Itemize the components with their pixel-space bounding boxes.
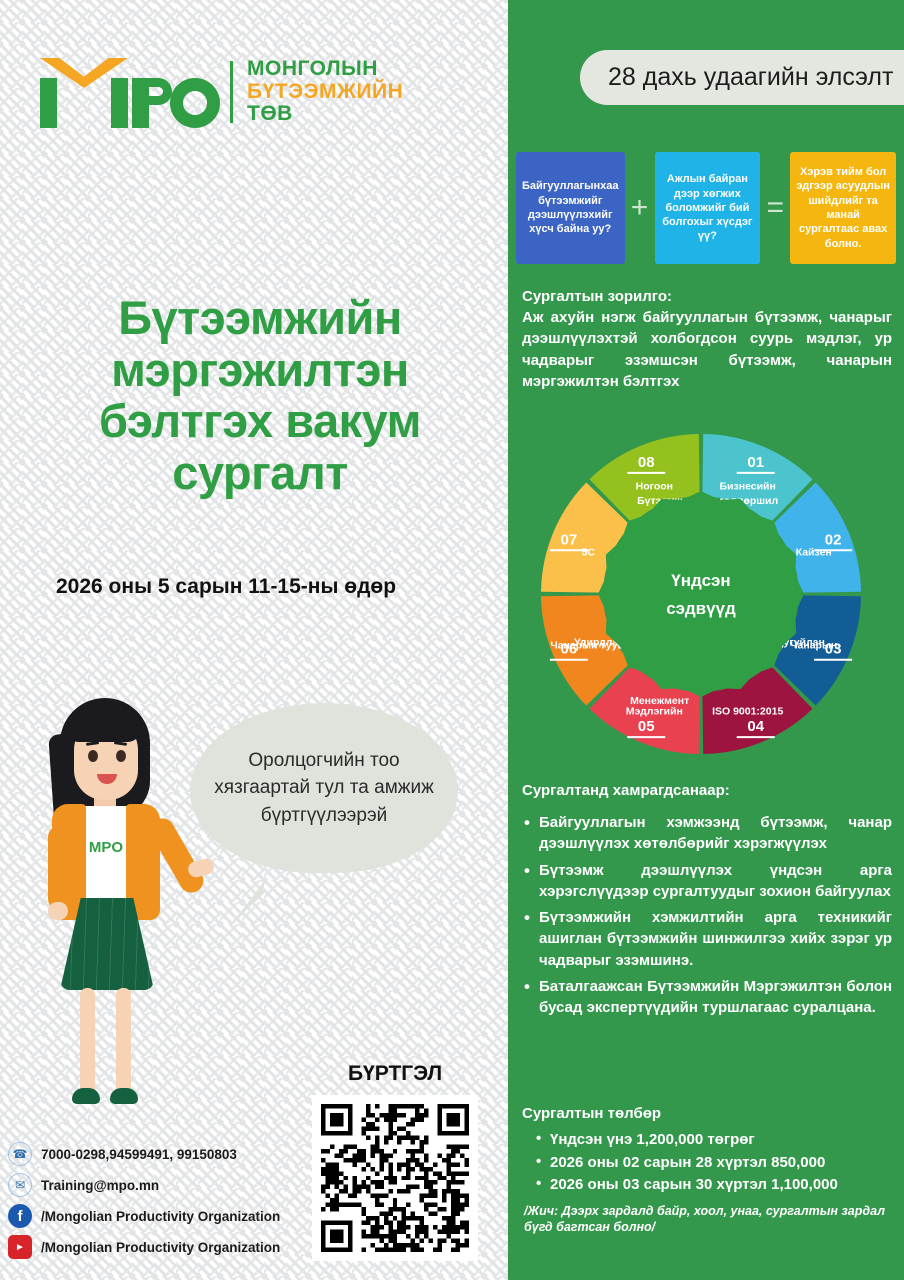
hand-left: [48, 902, 68, 920]
facebook-icon: f: [8, 1204, 32, 1228]
speech-bubble: Оролцогчийн тоо хязгаартай тул та амжиж …: [190, 703, 458, 873]
svg-text:Мэдлэгийн: Мэдлэгийн: [626, 706, 683, 718]
donut-chart-svg: 01БизнесийнТөгөлдөршил02Кайзен03Чанарынд…: [536, 432, 866, 757]
admission-banner: 28 дахь удаагийн элсэлт: [580, 50, 904, 105]
email-icon: ✉: [8, 1173, 32, 1197]
logo-letter-o: [170, 78, 220, 128]
logo-word-line-2: БҮТЭЭМЖИЙН: [247, 81, 403, 104]
mpo-logo: МОНГОЛЫН БҮТЭЭМЖИЙН ТӨВ: [36, 56, 403, 128]
eye-left: [88, 750, 98, 762]
logo-letter-m: [40, 78, 128, 128]
admission-banner-text: 28 дахь удаагийн элсэлт: [608, 63, 893, 92]
purpose-body: Аж ахуйн нэгж байгууллагын бүтээмж, чана…: [522, 307, 892, 392]
eye-right: [116, 750, 126, 762]
contact-email-text: Training@mpo.mn: [41, 1178, 159, 1193]
contact-phone-text: 7000-0298,94599491, 99150803: [41, 1147, 237, 1162]
svg-text:Бизнесийн: Бизнесийн: [720, 480, 776, 492]
svg-text:Ногоон: Ногоон: [636, 480, 673, 492]
donut-center-hub: [598, 491, 804, 697]
phone-icon: ☎: [8, 1142, 32, 1166]
list-item: 2026 оны 02 сарын 28 хүртэл 850,000: [536, 1152, 892, 1175]
qr-code-image: [321, 1104, 469, 1252]
donut-center-label: сэдвүүд: [666, 599, 736, 618]
list-item: Байгууллагын хэмжээнд бүтээмж, чанар дээ…: [522, 812, 892, 855]
fees-section: Сургалтын төлбөр Үндсэн үнэ 1,200,000 тө…: [522, 1105, 892, 1236]
svg-text:04: 04: [747, 718, 764, 735]
equation-box-2: Ажлын байран дээр хөгжих боломжийг бий б…: [655, 152, 761, 264]
list-item: 2026 оны 03 сарын 30 хүртэл 1,100,000: [536, 1174, 892, 1197]
contact-youtube-text: /Mongolian Productivity Organization: [41, 1240, 280, 1255]
list-item: Бүтээмж дээшлүүлэх үндсэн арга хэрэгслүү…: [522, 860, 892, 903]
mpo-logo-mark-icon: [36, 56, 206, 128]
shoe-right: [110, 1088, 138, 1104]
contact-facebook-text: /Mongolian Productivity Organization: [41, 1209, 280, 1224]
list-item: Баталгаажсан Бүтээмжийн Мэргэжилтэн боло…: [522, 976, 892, 1019]
purpose-heading: Сургалтын зорилго:: [522, 288, 892, 305]
purpose-section: Сургалтын зорилго: Аж ахуйн нэгж байгуул…: [522, 288, 892, 392]
fees-heading: Сургалтын төлбөр: [522, 1105, 892, 1122]
fees-note: /Жич: Дээрх зардалд байр, хоол, унаа, су…: [522, 1203, 892, 1237]
leg-left: [80, 988, 95, 1096]
svg-text:07: 07: [561, 531, 578, 548]
speech-bubble-tail: [215, 880, 265, 926]
contact-youtube[interactable]: ► /Mongolian Productivity Organization: [8, 1235, 308, 1259]
shoe-left: [72, 1088, 100, 1104]
svg-text:05: 05: [638, 718, 655, 735]
shirt-logo-icon: MPO: [82, 838, 130, 858]
qr-code[interactable]: [312, 1095, 478, 1261]
benefits-section: Сургалтанд хамрагдсанаар: Байгууллагын х…: [522, 782, 892, 1024]
svg-text:Менежмент: Менежмент: [630, 695, 689, 707]
core-topics-donut-chart: 01БизнесийнТөгөлдөршил02Кайзен03Чанарынд…: [536, 432, 866, 757]
training-date: 2026 оны 5 сарын 11-15-ны өдөр: [56, 575, 476, 599]
contact-list: ☎ 7000-0298,94599491, 99150803 ✉ Trainin…: [8, 1142, 308, 1266]
arm-left: [48, 826, 70, 910]
page-title: Бүтээмжийн мэргэжилтэн бэлтгэх вакум сур…: [40, 292, 480, 499]
logo-letter-p-stem: [132, 78, 149, 128]
svg-text:01: 01: [747, 454, 764, 471]
benefits-list: Байгууллагын хэмжээнд бүтээмж, чанар дээ…: [522, 812, 892, 1019]
logo-word-line-1: МОНГОЛЫН: [247, 58, 403, 81]
list-item: Үндсэн үнэ 1,200,000 төгрөг: [536, 1129, 892, 1152]
logo-word-line-3: ТӨВ: [247, 103, 403, 126]
donut-center-label: Үндсэн: [671, 571, 730, 590]
hair-fringe: [70, 708, 142, 742]
value-proposition-equation: Байгууллагынхаа бүтээмжийг дээшлүүлэхийг…: [516, 152, 896, 264]
logo-divider: [230, 61, 233, 123]
leg-right: [116, 988, 131, 1096]
contact-phone[interactable]: ☎ 7000-0298,94599491, 99150803: [8, 1142, 308, 1166]
svg-text:08: 08: [638, 454, 655, 471]
presenter-illustration: MPO: [18, 690, 198, 1110]
fees-list: Үндсэн үнэ 1,200,000 төгрөг 2026 оны 02 …: [522, 1129, 892, 1197]
logo-wordmark: МОНГОЛЫН БҮТЭЭМЖИЙН ТӨВ: [247, 58, 403, 126]
contact-email[interactable]: ✉ Training@mpo.mn: [8, 1173, 308, 1197]
svg-text:Кайзен: Кайзен: [796, 546, 832, 558]
list-item: Бүтээмжийн хэмжилтийн арга техникийг аши…: [522, 907, 892, 971]
left-panel: МОНГОЛЫН БҮТЭЭМЖИЙН ТӨВ Бүтээмжийн мэргэ…: [0, 0, 508, 1280]
equation-box-1: Байгууллагынхаа бүтээмжийг дээшлүүлэхийг…: [516, 152, 625, 264]
youtube-icon: ►: [8, 1235, 32, 1259]
svg-text:ISO 9001:2015: ISO 9001:2015: [712, 706, 783, 718]
svg-text:5С: 5С: [582, 546, 596, 558]
qr-code-label: БҮРТГЭЛ: [310, 1062, 480, 1086]
speech-bubble-text: Оролцогчийн тоо хязгаартай тул та амжиж …: [208, 747, 440, 830]
benefits-heading: Сургалтанд хамрагдсанаар:: [522, 782, 892, 799]
equation-plus-operator: +: [625, 152, 655, 264]
equation-equals-operator: =: [760, 152, 790, 264]
contact-facebook[interactable]: f /Mongolian Productivity Organization: [8, 1204, 308, 1228]
equation-box-3: Хэрэв тийм бол эдгээр асуудлын шийдлийг …: [790, 152, 896, 264]
